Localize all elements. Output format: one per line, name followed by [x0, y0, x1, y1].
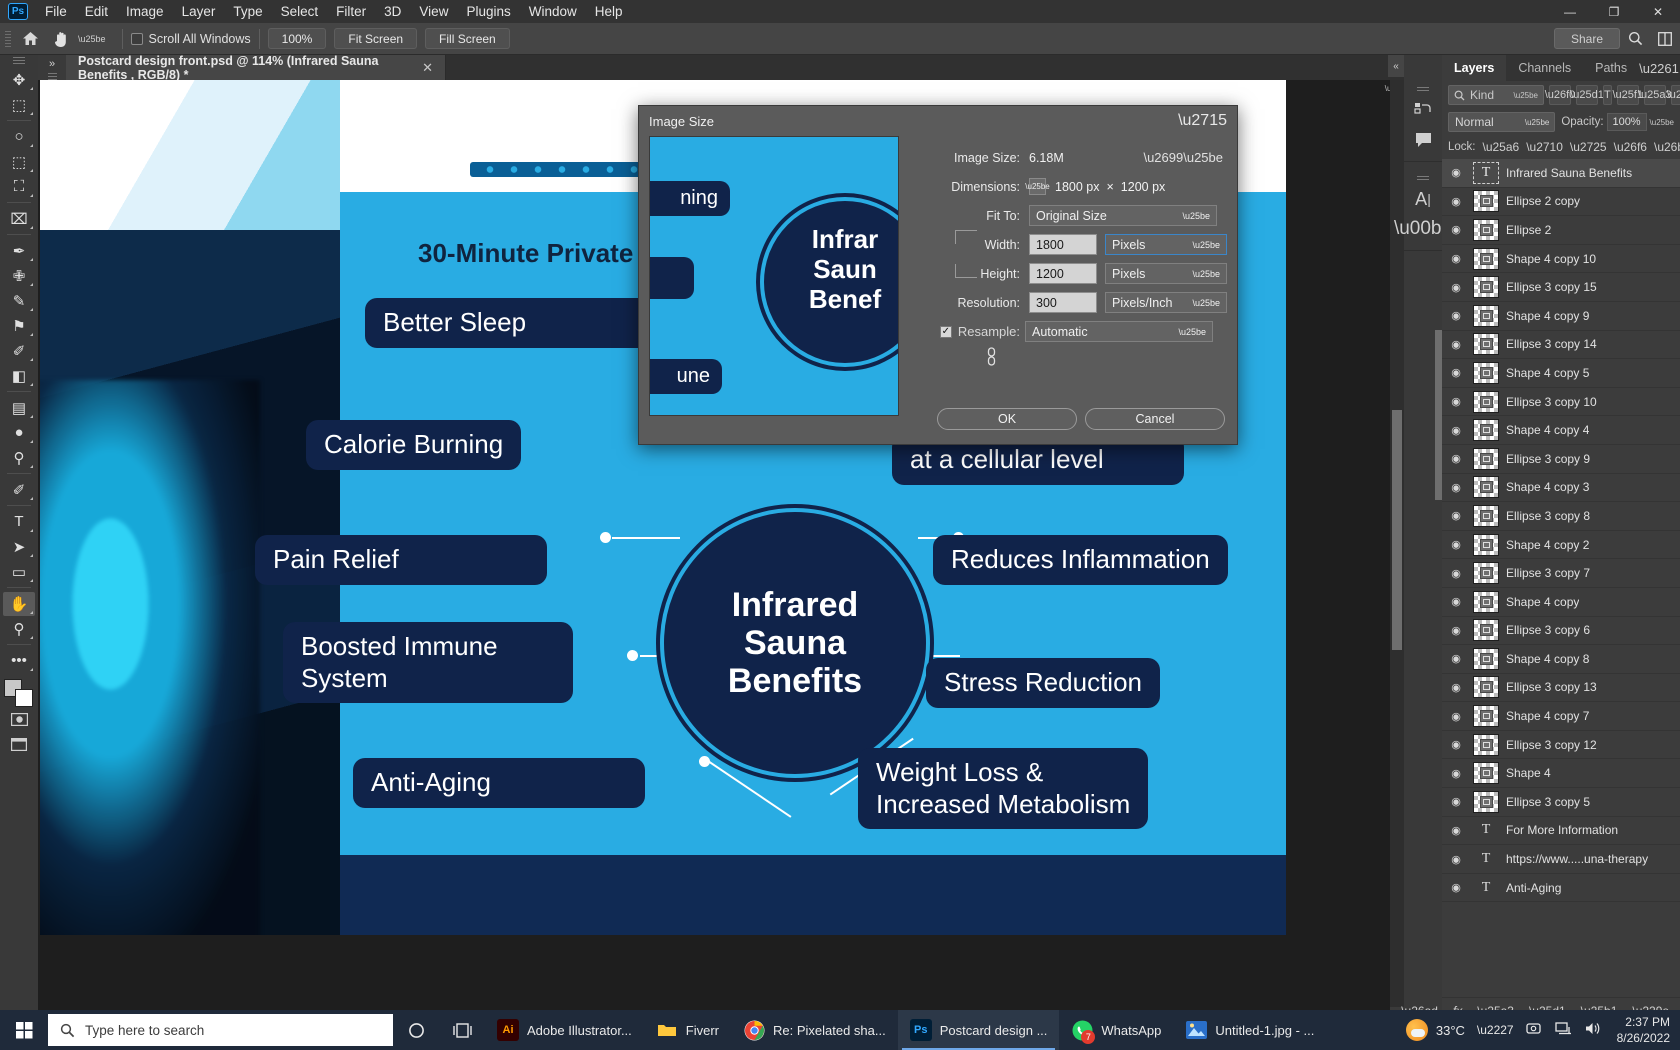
photos-icon: [1185, 1019, 1207, 1041]
chevron-down-icon: \u25be: [1525, 118, 1549, 127]
taskbar-app-label: Untitled-1.jpg - ...: [1215, 1023, 1314, 1038]
dodge-tool[interactable]: ⚲: [3, 446, 35, 470]
close-icon[interactable]: \u2715: [1178, 113, 1227, 129]
layer-thumbnail[interactable]: [1473, 305, 1499, 327]
layer-thumbnail[interactable]: [1473, 248, 1499, 270]
history-brush-tool[interactable]: ✐: [3, 339, 35, 363]
chevron-down-icon: \u25be: [1192, 240, 1220, 250]
dialog-title: Image Size: [649, 114, 714, 129]
taskbar-app-photos[interactable]: Untitled-1.jpg - ...: [1173, 1010, 1326, 1050]
layer-visibility-eye-icon[interactable]: ◉: [1446, 767, 1466, 780]
layer-name: Ellipse 3 copy 15: [1506, 280, 1597, 294]
fit-screen-button[interactable]: Fit Screen: [334, 28, 417, 49]
character-panel-icon[interactable]: A|: [1408, 184, 1438, 214]
divider: [7, 202, 31, 203]
layer-visibility-eye-icon[interactable]: ◉: [1446, 710, 1466, 723]
panel-tabs: Layers Channels Paths \u2261: [1442, 55, 1680, 81]
resample-value: Automatic: [1032, 325, 1088, 339]
camera-icon[interactable]: [1526, 1021, 1543, 1039]
layer-row[interactable]: ◉Shape 4 copy: [1442, 588, 1680, 617]
background-color-swatch[interactable]: [15, 689, 33, 707]
volume-icon[interactable]: [1584, 1021, 1601, 1039]
opacity-value[interactable]: 100%: [1607, 113, 1647, 131]
history-icon[interactable]: [1408, 95, 1438, 125]
layer-visibility-eye-icon[interactable]: ◉: [1446, 309, 1466, 322]
type-filter-icon[interactable]: T: [1603, 85, 1612, 105]
clone-stamp-tool[interactable]: ⚑: [3, 314, 35, 338]
menu-item-select[interactable]: Select: [272, 2, 328, 21]
vector-mask-icon: [1480, 710, 1493, 722]
weather-widget[interactable]: 33°C: [1406, 1019, 1465, 1041]
clone-stamp-tool-glyph: ⚑: [12, 317, 25, 335]
zoom-100-button[interactable]: 100%: [268, 28, 327, 49]
vector-mask-icon: [1480, 338, 1493, 350]
layers-panel: Layers Channels Paths \u2261 Kind \u25be…: [1442, 55, 1680, 1023]
menu-item-3d[interactable]: 3D: [375, 2, 410, 21]
tool-more-triangle: [30, 87, 33, 90]
share-button[interactable]: Share: [1554, 28, 1620, 49]
vector-mask-icon: [1480, 253, 1493, 265]
layer-name: Ellipse 3 copy 6: [1506, 623, 1590, 637]
layer-visibility-eye-icon[interactable]: ◉: [1446, 738, 1466, 751]
layer-visibility-eye-icon[interactable]: ◉: [1446, 223, 1466, 236]
smartobject-filter-icon[interactable]: \u25a3: [1644, 85, 1666, 105]
layer-row[interactable]: ◉Shape 4 copy 5: [1442, 359, 1680, 388]
constrain-bracket-bottom: [955, 264, 977, 278]
rectangular-marquee-tool[interactable]: ⬚: [3, 93, 35, 117]
cancel-button[interactable]: Cancel: [1085, 408, 1225, 430]
tool-more-triangle: [30, 226, 33, 229]
dialog-body: ning une Infrar Saun Benef Image Size: 6…: [639, 136, 1237, 416]
cortana-icon[interactable]: [393, 1010, 439, 1050]
layer-row[interactable]: ◉TAnti-Aging: [1442, 874, 1680, 903]
menu-item-image[interactable]: Image: [117, 2, 173, 21]
pixel-filter-icon[interactable]: \u26f0: [1549, 85, 1571, 105]
move-tool[interactable]: ✥: [3, 68, 35, 92]
opacity-control[interactable]: Opacity: 100% \u25be: [1561, 113, 1674, 131]
taskbar-app-whatsapp[interactable]: 7WhatsApp: [1059, 1010, 1173, 1050]
layer-visibility-eye-icon[interactable]: ◉: [1446, 366, 1466, 379]
layer-visibility-eye-icon[interactable]: ◉: [1446, 338, 1466, 351]
vector-mask-icon: [1480, 796, 1493, 808]
lasso-tool[interactable]: ○: [3, 125, 35, 149]
fit-to-select[interactable]: Original Size \u25be: [1029, 205, 1217, 226]
divider: [122, 29, 123, 49]
layer-thumbnail[interactable]: [1473, 705, 1499, 727]
node-calorie-burning: Calorie Burning: [306, 420, 521, 470]
resolution-row: Resolution: 300 Pixels/Inch \u25be: [921, 291, 1227, 314]
gear-icon[interactable]: \u2699\u25be: [1143, 150, 1227, 165]
zoom-tool[interactable]: ⚲: [3, 617, 35, 641]
constrain-bracket-top: [955, 230, 977, 244]
menu-item-view[interactable]: View: [410, 2, 457, 21]
tool-more-triangle: [30, 465, 33, 468]
layer-row[interactable]: ◉Shape 4 copy 3: [1442, 474, 1680, 503]
brush-tool[interactable]: ✎: [3, 289, 35, 313]
minimize-button[interactable]: —: [1548, 0, 1592, 23]
spot-healing-brush-tool-glyph: ✙: [13, 267, 26, 285]
taskbar-app-photoshop[interactable]: PsPostcard design ...: [898, 1010, 1060, 1050]
rectangle-tool-glyph: ▭: [12, 563, 26, 581]
node-pain-relief: Pain Relief: [255, 535, 547, 585]
gradient-tool[interactable]: ▤: [3, 396, 35, 420]
history-brush-tool-glyph: ✐: [13, 342, 26, 360]
tab-overflow-button[interactable]: »: [38, 55, 66, 80]
clock-time: 2:37 PM: [1617, 1014, 1670, 1030]
layer-visibility-eye-icon[interactable]: ◉: [1446, 166, 1466, 179]
frame-tool[interactable]: ⌧: [3, 207, 35, 231]
layer-visibility-eye-icon[interactable]: ◉: [1446, 681, 1466, 694]
paragraph-panel-icon[interactable]: \u00b6: [1408, 214, 1438, 244]
connector-line: [612, 537, 680, 539]
menu-item-help[interactable]: Help: [586, 2, 632, 21]
comments-icon[interactable]: [1408, 125, 1438, 155]
crop-tool[interactable]: ⛶: [3, 175, 35, 199]
weather-temp: 33°C: [1436, 1023, 1465, 1038]
shape-filter-icon[interactable]: \u25f1: [1617, 85, 1639, 105]
layer-row[interactable]: ◉Ellipse 3 copy 13: [1442, 674, 1680, 703]
window-controls: — ❐ ✕: [1548, 0, 1680, 23]
close-button[interactable]: ✕: [1636, 0, 1680, 23]
layer-row[interactable]: ◉TFor More Information: [1442, 817, 1680, 846]
menu-item-layer[interactable]: Layer: [173, 2, 225, 21]
taskbar-app-label: Postcard design ...: [940, 1023, 1048, 1038]
menu-item-file[interactable]: File: [36, 2, 76, 21]
layer-visibility-eye-icon[interactable]: ◉: [1446, 652, 1466, 665]
network-icon[interactable]: [1555, 1021, 1572, 1039]
dimensions-chevron-down-icon[interactable]: \u25be: [1029, 178, 1046, 195]
show-hidden-icons-chevron[interactable]: \u2227: [1477, 1023, 1514, 1037]
tab-grip: [48, 73, 57, 80]
tab-paths[interactable]: Paths: [1583, 55, 1639, 81]
dialog-fields: Image Size: 6.18M \u2699\u25be Dimension…: [899, 136, 1227, 416]
fill-screen-button[interactable]: Fill Screen: [425, 28, 510, 49]
chevron-down-icon: \u25be: [1182, 211, 1210, 221]
divider: [259, 29, 260, 49]
node-weight-loss: Weight Loss & Increased Metabolism: [858, 748, 1148, 829]
menu-item-type[interactable]: Type: [224, 2, 271, 21]
layer-thumbnail[interactable]: [1473, 190, 1499, 212]
layer-name: For More Information: [1506, 823, 1618, 837]
tools-panel: ✥⬚○⬚⛶⌧✒✙✎⚑✐◧▤●⚲✐T➤▭✋⚲•••: [0, 55, 38, 1023]
layer-row[interactable]: ◉Ellipse 3 copy 9: [1442, 445, 1680, 474]
layer-filter-row: Kind \u25be \u26f0 \u25d1 T \u25f1 \u25a…: [1442, 81, 1680, 109]
tool-more-triangle: [30, 636, 33, 639]
edit-toolbar-tool[interactable]: •••: [3, 649, 35, 673]
layer-thumbnail[interactable]: [1473, 619, 1499, 641]
layer-visibility-eye-icon[interactable]: ◉: [1446, 595, 1466, 608]
chrome-icon: [743, 1019, 765, 1041]
layer-thumbnail[interactable]: [1473, 591, 1499, 613]
layer-thumbnail-text-icon[interactable]: T: [1473, 848, 1499, 870]
illustrator-icon: Ai: [497, 1019, 519, 1041]
width-input[interactable]: 1800: [1029, 234, 1097, 255]
folder-icon: [656, 1019, 678, 1041]
layer-name: Shape 4: [1506, 766, 1551, 780]
layer-thumbnail[interactable]: [1473, 276, 1499, 298]
vector-mask-icon: [1480, 195, 1493, 207]
menu-item-plugins[interactable]: Plugins: [457, 2, 519, 21]
vector-mask-icon: [1480, 767, 1493, 779]
resample-checkbox[interactable]: ✓: [940, 326, 952, 338]
resolution-label: Resolution:: [921, 296, 1029, 310]
chevron-down-icon: \u25be: [1192, 269, 1220, 279]
node-boosted-immune-system: Boosted Immune System: [283, 622, 573, 703]
height-unit-select[interactable]: Pixels \u25be: [1105, 263, 1227, 284]
tool-more-triangle: [30, 668, 33, 671]
windows-taskbar: Type here to search AiAdobe Illustrator.…: [0, 1010, 1680, 1050]
layer-visibility-eye-icon[interactable]: ◉: [1446, 395, 1466, 408]
layer-list[interactable]: ◉TInfrared Sauna Benefits◉Ellipse 2 copy…: [1442, 159, 1680, 997]
layer-thumbnail[interactable]: [1473, 219, 1499, 241]
height-input[interactable]: 1200: [1029, 263, 1097, 284]
close-icon[interactable]: ✕: [422, 60, 433, 76]
home-icon[interactable]: [13, 31, 47, 46]
toolbar-grip[interactable]: [13, 57, 25, 65]
rail-grip[interactable]: [1417, 87, 1429, 93]
layer-thumbnail[interactable]: [1473, 391, 1499, 413]
search-icon: [1454, 90, 1465, 101]
layer-row[interactable]: ◉Ellipse 3 copy 5: [1442, 788, 1680, 817]
panel-menu-icon[interactable]: \u2261: [1639, 55, 1680, 81]
blend-mode-select[interactable]: Normal \u25be: [1448, 112, 1555, 132]
filter-toggle-icon[interactable]: \u25cf: [1671, 85, 1680, 105]
dialog-title-bar[interactable]: Image Size \u2715: [639, 106, 1237, 136]
task-view-icon[interactable]: [439, 1010, 485, 1050]
screen-mode-icon[interactable]: [3, 733, 35, 757]
layer-visibility-eye-icon[interactable]: ◉: [1446, 195, 1466, 208]
lock-artboard-icon[interactable]: \u26f6: [1614, 140, 1647, 154]
connector-dot: [627, 650, 638, 661]
hand-tool-icon[interactable]: [47, 30, 77, 48]
layer-visibility-eye-icon[interactable]: ◉: [1446, 624, 1466, 637]
divider: [1404, 250, 1442, 251]
layer-row[interactable]: ◉Ellipse 3 copy 14: [1442, 331, 1680, 360]
layer-thumbnail-text-icon[interactable]: T: [1473, 819, 1499, 841]
collapse-panels-icon[interactable]: «: [1388, 55, 1404, 77]
tab-channels[interactable]: Channels: [1506, 55, 1583, 81]
lock-position-icon[interactable]: \u2725: [1570, 140, 1607, 154]
scroll-all-windows-checkbox[interactable]: Scroll All Windows: [131, 32, 251, 46]
color-swatches[interactable]: [4, 679, 34, 707]
maximize-button[interactable]: ❐: [1592, 0, 1636, 23]
layer-row[interactable]: ◉Ellipse 3 copy 15: [1442, 273, 1680, 302]
layer-row[interactable]: ◉Ellipse 3 copy 8: [1442, 502, 1680, 531]
photo-highlight: [40, 80, 340, 230]
edit-toolbar-tool-glyph: •••: [11, 652, 27, 669]
taskbar-app-label: Adobe Illustrator...: [527, 1023, 632, 1038]
vector-mask-icon: [1480, 281, 1493, 293]
lock-transparent-pixels-icon[interactable]: \u25a6: [1483, 140, 1520, 154]
layer-name: Ellipse 3 copy 7: [1506, 566, 1590, 580]
tab-layers[interactable]: Layers: [1442, 55, 1506, 81]
adjustment-filter-icon[interactable]: \u25d1: [1576, 85, 1598, 105]
layer-thumbnail[interactable]: [1473, 362, 1499, 384]
connector-dot: [600, 532, 611, 543]
path-selection-tool[interactable]: ➤: [3, 535, 35, 559]
search-icon[interactable]: [1620, 31, 1650, 46]
quick-mask-icon[interactable]: [3, 708, 35, 732]
layer-thumbnail[interactable]: [1473, 448, 1499, 470]
layer-thumbnail-text-icon[interactable]: T: [1473, 162, 1499, 184]
preview-node-mid: [649, 257, 694, 299]
menu-item-edit[interactable]: Edit: [76, 2, 117, 21]
dimensions-row: Dimensions: \u25be 1800 px × 1200 px: [921, 175, 1227, 198]
resample-row: ✓ Resample: Automatic \u25be: [921, 320, 1227, 343]
search-input[interactable]: Type here to search: [48, 1014, 393, 1046]
lock-label: Lock:: [1448, 141, 1476, 153]
menu-item-window[interactable]: Window: [520, 2, 586, 21]
vector-mask-icon: [1480, 224, 1493, 236]
vector-mask-icon: [1480, 596, 1493, 608]
blur-tool[interactable]: ●: [3, 421, 35, 445]
windows-start-icon[interactable]: [0, 1010, 48, 1050]
preview-node-bottom: une: [649, 359, 722, 394]
layer-visibility-eye-icon[interactable]: ◉: [1446, 424, 1466, 437]
layer-row[interactable]: ◉Thttps://www.....una-therapy: [1442, 845, 1680, 874]
layer-row[interactable]: ◉Ellipse 3 copy 6: [1442, 617, 1680, 646]
layer-row[interactable]: ◉TInfrared Sauna Benefits: [1442, 159, 1680, 188]
menu-item-filter[interactable]: Filter: [327, 2, 375, 21]
layer-thumbnail[interactable]: [1473, 333, 1499, 355]
layer-visibility-eye-icon[interactable]: ◉: [1446, 509, 1466, 522]
layer-visibility-eye-icon[interactable]: ◉: [1446, 853, 1466, 866]
resolution-input[interactable]: 300: [1029, 292, 1097, 313]
pen-tool-glyph: ✐: [13, 481, 26, 499]
layer-row[interactable]: ◉Shape 4 copy 7: [1442, 702, 1680, 731]
image-size-dialog[interactable]: Image Size \u2715 ning une Infrar Saun B…: [638, 105, 1238, 445]
checkbox-box[interactable]: [131, 33, 143, 45]
eyedropper-tool[interactable]: ✒: [3, 239, 35, 263]
opacity-label: Opacity:: [1561, 116, 1603, 128]
eraser-tool[interactable]: ◧: [3, 364, 35, 388]
layer-thumbnail[interactable]: [1473, 791, 1499, 813]
tool-more-triangle: [30, 169, 33, 172]
layer-visibility-eye-icon[interactable]: ◉: [1446, 795, 1466, 808]
layer-thumbnail[interactable]: [1473, 476, 1499, 498]
layer-visibility-eye-icon[interactable]: ◉: [1446, 538, 1466, 551]
secondary-panel-rail: A| \u00b6: [1404, 55, 1442, 1023]
blur-tool-glyph: ●: [14, 424, 23, 441]
system-tray: 33°C \u2227 2:37 PM 8/26/2022: [1406, 1014, 1680, 1046]
rectangle-tool[interactable]: ▭: [3, 560, 35, 584]
photoshop-icon: Ps: [910, 1019, 932, 1041]
taskbar-app-chrome[interactable]: Re: Pixelated sha...: [731, 1010, 898, 1050]
layer-row[interactable]: ◉Shape 4 copy 4: [1442, 416, 1680, 445]
layer-visibility-eye-icon[interactable]: ◉: [1446, 452, 1466, 465]
layer-row[interactable]: ◉Ellipse 2 copy: [1442, 188, 1680, 217]
resolution-unit-select[interactable]: Pixels/Inch \u25be: [1105, 292, 1227, 313]
clock[interactable]: 2:37 PM 8/26/2022: [1613, 1014, 1670, 1046]
resolution-unit-value: Pixels/Inch: [1112, 296, 1172, 310]
layer-visibility-eye-icon[interactable]: ◉: [1446, 567, 1466, 580]
layer-thumbnail[interactable]: [1473, 419, 1499, 441]
taskbar-app-label: WhatsApp: [1101, 1023, 1161, 1038]
path-selection-tool-glyph: ➤: [13, 538, 26, 556]
rail-grip[interactable]: [1417, 176, 1429, 182]
frame-tool-glyph: ⌧: [10, 210, 27, 228]
layer-thumbnail[interactable]: [1473, 734, 1499, 756]
divider: [7, 587, 31, 588]
resample-select[interactable]: Automatic \u25be: [1025, 321, 1213, 342]
headline-text: 30-Minute Private Inf: [418, 238, 672, 269]
tool-more-triangle: [30, 258, 33, 261]
lock-all-icon[interactable]: \u26bf: [1654, 140, 1680, 154]
layer-visibility-eye-icon[interactable]: ◉: [1446, 281, 1466, 294]
layer-row[interactable]: ◉Shape 4 copy 8: [1442, 645, 1680, 674]
layer-thumbnail-text-icon[interactable]: T: [1473, 877, 1499, 899]
layer-row[interactable]: ◉Shape 4 copy 2: [1442, 531, 1680, 560]
layer-visibility-eye-icon[interactable]: ◉: [1446, 824, 1466, 837]
layer-name: Ellipse 3 copy 8: [1506, 509, 1590, 523]
layer-visibility-eye-icon[interactable]: ◉: [1446, 881, 1466, 894]
dimensions-multiply-symbol: ×: [1106, 180, 1113, 194]
layer-row[interactable]: ◉Shape 4 copy 10: [1442, 245, 1680, 274]
brush-tool-glyph: ✎: [13, 292, 26, 310]
divider: [7, 505, 31, 506]
object-selection-tool[interactable]: ⬚: [3, 150, 35, 174]
layer-thumbnail[interactable]: [1473, 562, 1499, 584]
layer-visibility-eye-icon[interactable]: ◉: [1446, 252, 1466, 265]
lasso-tool-glyph: ○: [14, 128, 23, 145]
layer-row[interactable]: ◉Ellipse 3 copy 10: [1442, 388, 1680, 417]
pen-tool[interactable]: ✐: [3, 478, 35, 502]
image-preview[interactable]: ning une Infrar Saun Benef: [649, 136, 899, 416]
dimensions-height-value: 1200 px: [1121, 180, 1165, 194]
spot-healing-brush-tool[interactable]: ✙: [3, 264, 35, 288]
hand-tool[interactable]: ✋: [3, 592, 35, 616]
tool-more-triangle: [30, 497, 33, 500]
link-constrain-icon[interactable]: [979, 344, 1003, 370]
document-tab[interactable]: Postcard design front.psd @ 114% (Infrar…: [66, 55, 446, 80]
move-tool-glyph: ✥: [13, 71, 26, 89]
filter-kind-select[interactable]: Kind \u25be: [1448, 85, 1544, 105]
layer-visibility-eye-icon[interactable]: ◉: [1446, 481, 1466, 494]
preview-node-top: ning: [649, 181, 730, 216]
tool-preset-chevron-down-icon[interactable]: \u25be: [78, 34, 106, 44]
divider: [7, 120, 31, 121]
layer-thumbnail[interactable]: [1473, 534, 1499, 556]
taskbar-app-folder[interactable]: Fiverr: [644, 1010, 731, 1050]
layer-thumbnail[interactable]: [1473, 505, 1499, 527]
vector-mask-icon: [1480, 453, 1493, 465]
options-bar-grip[interactable]: [3, 29, 13, 49]
ok-button[interactable]: OK: [937, 408, 1077, 430]
horizontal-type-tool[interactable]: T: [3, 510, 35, 534]
layer-name: Ellipse 3 copy 14: [1506, 337, 1597, 351]
layer-row[interactable]: ◉Shape 4: [1442, 759, 1680, 788]
arrange-documents-icon[interactable]: [1650, 32, 1680, 46]
taskbar-app-illustrator[interactable]: AiAdobe Illustrator...: [485, 1010, 644, 1050]
crop-tool-glyph: ⛶: [14, 178, 25, 195]
layer-thumbnail[interactable]: [1473, 762, 1499, 784]
lock-image-pixels-icon[interactable]: \u2710: [1526, 140, 1563, 154]
chevron-down-icon[interactable]: \u25be: [1650, 118, 1674, 127]
panel-vertical-scrollbar[interactable]: [1435, 330, 1442, 500]
layer-row[interactable]: ◉Ellipse 3 copy 12: [1442, 731, 1680, 760]
width-unit-select[interactable]: Pixels \u25be: [1105, 234, 1227, 255]
vector-mask-icon: [1480, 681, 1493, 693]
resample-label: Resample:: [958, 324, 1020, 339]
layer-thumbnail[interactable]: [1473, 676, 1499, 698]
layer-name: Ellipse 3 copy 5: [1506, 795, 1590, 809]
options-bar: \u25be Scroll All Windows 100% Fit Scree…: [0, 23, 1680, 55]
layer-row[interactable]: ◉Ellipse 2: [1442, 216, 1680, 245]
layer-thumbnail[interactable]: [1473, 648, 1499, 670]
node-stress-reduction: Stress Reduction: [926, 658, 1160, 708]
layer-row[interactable]: ◉Ellipse 3 copy 7: [1442, 559, 1680, 588]
layer-row[interactable]: ◉Shape 4 copy 9: [1442, 302, 1680, 331]
